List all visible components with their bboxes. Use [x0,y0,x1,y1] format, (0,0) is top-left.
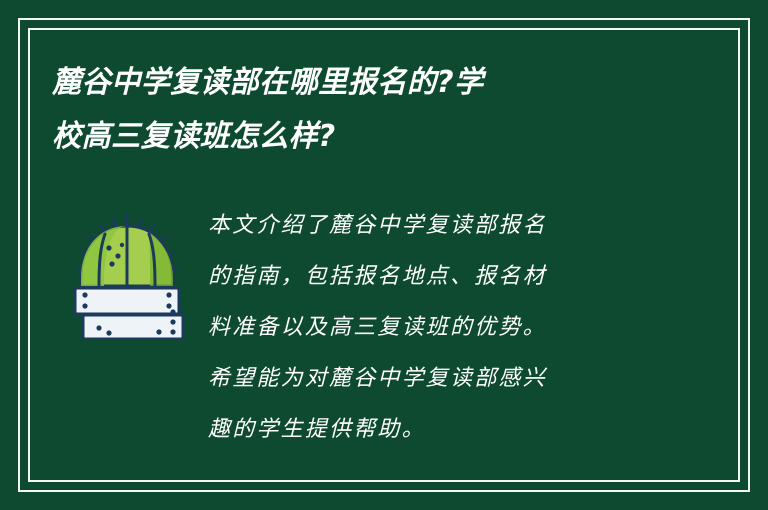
title-line-1: 麓谷中学复读部在哪里报名的?学 [52,56,673,110]
body-line-4: 希望能为对麓谷中学复读部感兴 [208,353,716,404]
body-text-block: 本文介绍了麓谷中学复读部报名 的指南，包括报名地点、报名材 料准备以及高三复读班… [202,198,716,455]
pot-upper-band [75,288,179,314]
page-title: 麓谷中学复读部在哪里报名的?学 校高三复读班怎么样? [52,56,692,164]
body-line-1: 本文介绍了麓谷中学复读部报名 [208,200,716,251]
body-line-2: 的指南，包括报名地点、报名材 [208,251,716,302]
illustration-container [52,198,202,340]
title-line-2: 校高三复读班怎么样? [52,110,673,164]
content-area: 本文介绍了麓谷中学复读部报名 的指南，包括报名地点、报名材 料准备以及高三复读班… [52,198,716,462]
cactus-in-pot-icon [69,212,185,340]
body-line-5: 趣的学生提供帮助。 [208,404,716,455]
body-line-3: 料准备以及高三复读班的优势。 [208,302,716,353]
